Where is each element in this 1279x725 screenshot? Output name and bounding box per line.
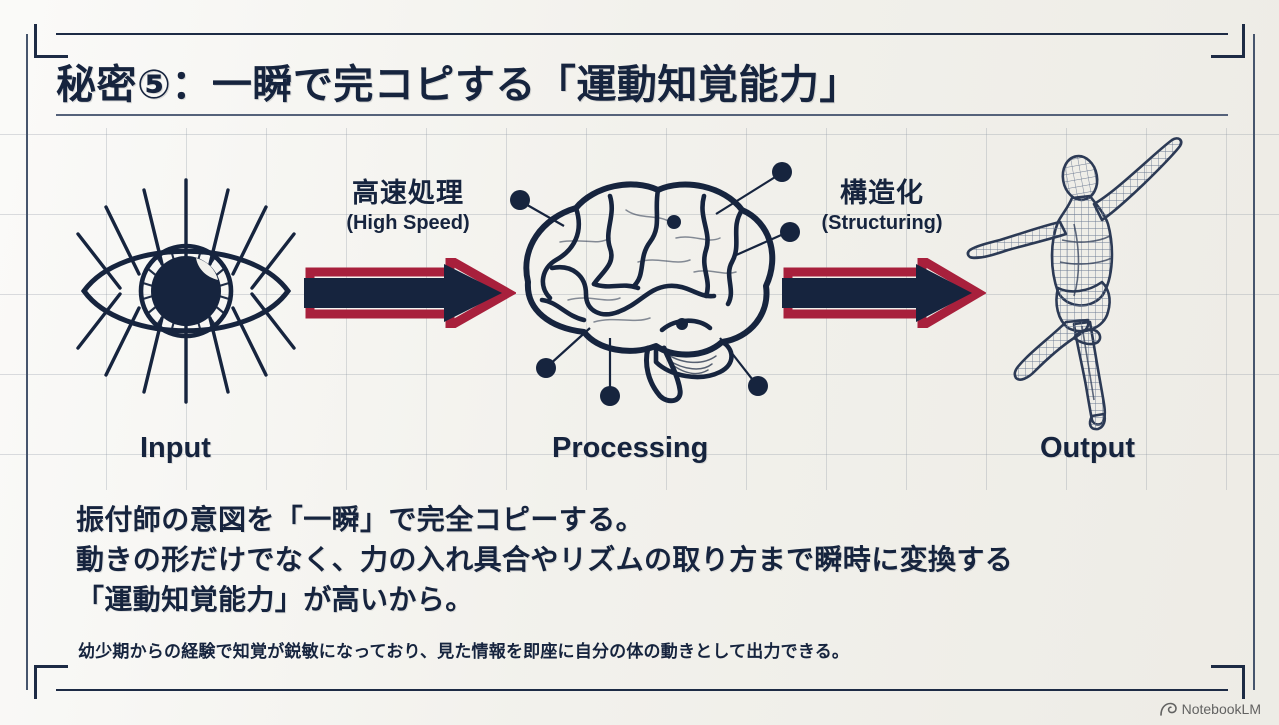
slide-title: 秘密⑤：一瞬で完コピする「運動知覚能力」 xyxy=(56,52,860,110)
arrow-label-jp: 構造化 xyxy=(778,178,986,210)
body-line-3: 「運動知覚能力」が高いから。 xyxy=(76,580,1196,620)
corner-bracket-bottom-right xyxy=(1211,665,1245,699)
arrow-label-en: (High Speed) xyxy=(300,212,516,236)
body-footnote: 幼少期からの経験で知覚が鋭敏になっており、見た情報を即座に自分の体の動きとして出… xyxy=(78,637,849,662)
corner-bracket-bottom-left xyxy=(34,665,68,699)
arrow-graphic xyxy=(300,258,516,328)
frame-line-top xyxy=(56,33,1228,35)
stage-label-output: Output xyxy=(1040,432,1135,465)
slide-canvas: 秘密⑤：一瞬で完コピする「運動知覚能力」 xyxy=(0,0,1279,725)
arrow-high-speed: 高速処理 (High Speed) xyxy=(300,178,516,338)
notebooklm-icon xyxy=(1160,702,1177,717)
arrow-label-structuring: 構造化 (Structuring) xyxy=(778,178,986,235)
dancer-illustration xyxy=(962,130,1194,430)
stage-label-input: Input xyxy=(140,432,211,465)
brain-icon xyxy=(498,152,804,412)
eye-icon xyxy=(70,176,302,406)
dancer-body xyxy=(968,138,1181,429)
arrow-structuring: 構造化 (Structuring) xyxy=(778,178,986,338)
eye-illustration xyxy=(70,176,302,406)
arrow-label-jp: 高速処理 xyxy=(300,178,516,210)
body-line-1: 振付師の意図を「一瞬」で完全コピーする。 xyxy=(76,500,1196,540)
arrow-graphic xyxy=(778,258,986,328)
watermark-label: NotebookLM xyxy=(1182,701,1261,717)
title-underline xyxy=(56,114,1228,116)
brain-illustration xyxy=(498,152,804,412)
body-line-2: 動きの形だけでなく、力の入れ具合やリズムの取り方まで瞬時に変換する xyxy=(76,540,1196,580)
notebooklm-watermark: NotebookLM xyxy=(1160,701,1261,717)
dancer-wireframe-icon xyxy=(962,130,1194,430)
frame-line-left xyxy=(26,34,28,690)
arrow-label-high-speed: 高速処理 (High Speed) xyxy=(300,178,516,235)
frame-line-bottom xyxy=(56,689,1228,691)
corner-bracket-top-right xyxy=(1211,24,1245,58)
stage-label-processing: Processing xyxy=(552,432,708,465)
arrow-label-en: (Structuring) xyxy=(778,212,986,236)
right-arrow-icon xyxy=(778,258,986,328)
right-arrow-icon xyxy=(300,258,516,328)
body-text-block: 振付師の意図を「一瞬」で完全コピーする。 動きの形だけでなく、力の入れ具合やリズ… xyxy=(76,500,1196,620)
frame-line-right xyxy=(1253,34,1255,690)
